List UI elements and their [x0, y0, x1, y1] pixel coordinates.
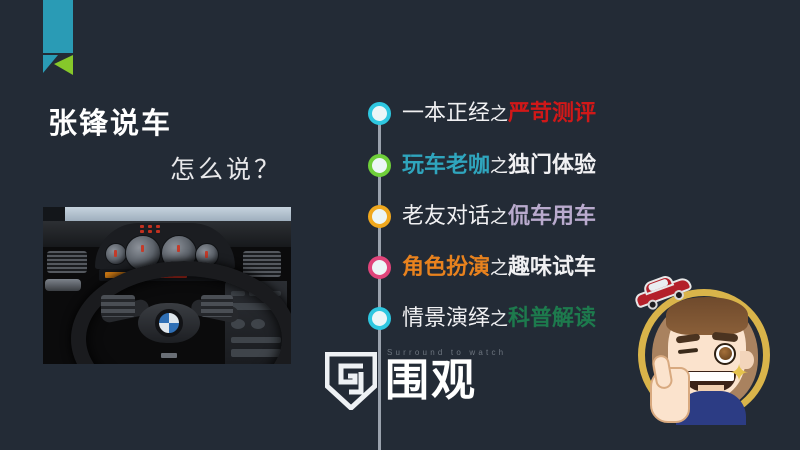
timeline-highlight-3: 侃车用车: [508, 203, 596, 228]
timeline-connector-1: 之: [490, 104, 508, 124]
bookmark-ribbon-icon: [43, 0, 73, 75]
air-vent-left: [47, 251, 87, 273]
timeline-prefix-2: 玩车老咖: [402, 152, 490, 177]
light-switch: [45, 279, 81, 291]
timeline-connector-4: 之: [490, 258, 508, 278]
timeline-highlight-4: 趣味试车: [508, 254, 596, 279]
wheel-buttons-right: [201, 295, 233, 317]
bookmark-tail: [43, 55, 73, 75]
timeline-label-1: 一本正经之严苛测评: [402, 99, 596, 128]
bmw-steering-wheel-photo: [43, 207, 291, 364]
air-vent-right: [243, 251, 281, 277]
timeline-highlight-5: 科普解读: [508, 305, 596, 330]
timeline-connector-2: 之: [490, 156, 508, 176]
timeline-connector-5: 之: [490, 309, 508, 329]
timeline-dot-4: [368, 256, 391, 279]
timeline-dot-3: [368, 205, 391, 228]
timeline-dot-1: [368, 102, 391, 125]
page-title: 张锋说车: [48, 110, 172, 139]
timeline-prefix-1: 一本正经: [402, 100, 490, 125]
timeline-prefix-4: 角色扮演: [402, 254, 490, 279]
warning-lights: [140, 225, 166, 235]
timeline-dot-2: [368, 154, 391, 177]
bookmark-top-band: [43, 0, 73, 53]
avatar-iris: [719, 347, 732, 360]
timeline-prefix-5: 情景演绎: [402, 305, 490, 330]
wheel-buttons-left: [101, 295, 135, 317]
timeline-label-3: 老友对话之侃车用车: [402, 202, 596, 231]
timeline-highlight-1: 严苛测评: [508, 100, 596, 125]
timeline-connector-3: 之: [490, 207, 508, 227]
slide-canvas: 张锋说车 怎么说？: [0, 0, 800, 450]
brand-block: Surround to watch 围观: [325, 348, 500, 414]
gauge-fuel: [105, 243, 127, 265]
timeline-label-2: 玩车老咖之独门体验: [402, 151, 596, 180]
page-subtitle: 怎么说？: [170, 158, 282, 183]
timeline-prefix-3: 老友对话: [402, 203, 490, 228]
timeline-label-4: 角色扮演之趣味试车: [402, 253, 596, 282]
timeline-dot-5: [368, 307, 391, 330]
bmw-roundel-icon: [155, 309, 183, 337]
shield-logo-icon: [325, 352, 377, 410]
brand-name: 围观: [385, 359, 477, 403]
cartoon-host-avatar: ✦: [628, 275, 788, 435]
m-badge: [161, 353, 177, 358]
timeline-label-5: 情景演绎之科普解读: [402, 304, 596, 333]
sparkle-icon: ✦: [728, 361, 750, 387]
bookmark-tail-right: [54, 55, 73, 75]
avatar-teeth: [686, 372, 734, 381]
timeline-highlight-2: 独门体验: [508, 152, 596, 177]
